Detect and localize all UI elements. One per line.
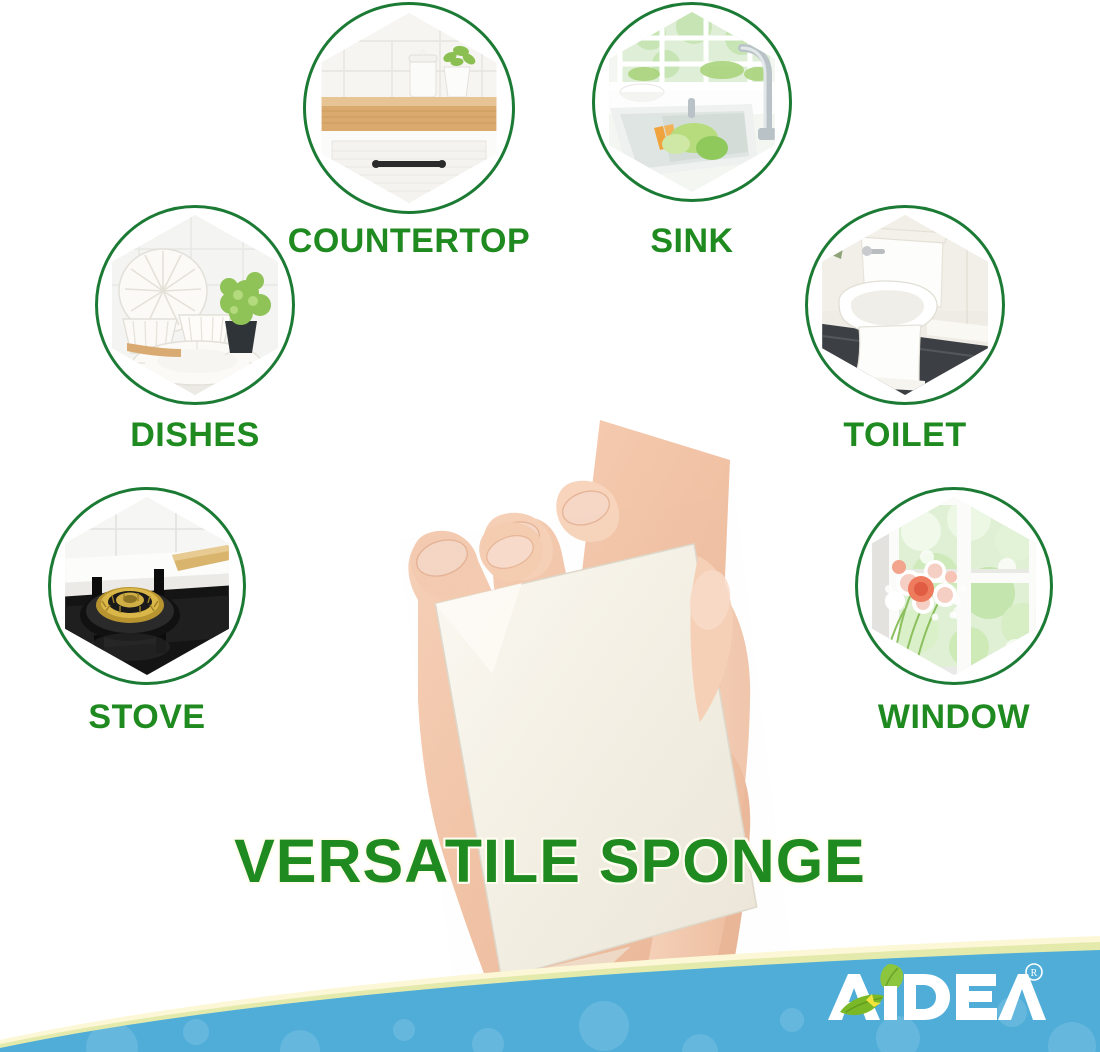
feature-label-toilet: TOILET bbox=[805, 416, 1005, 455]
feature-label-stove: STOVE bbox=[48, 698, 246, 737]
feature-countertop[interactable] bbox=[303, 2, 515, 214]
feature-dishes[interactable] bbox=[95, 205, 295, 405]
feature-stove[interactable] bbox=[48, 487, 246, 685]
svg-text:R: R bbox=[1031, 968, 1038, 979]
brand-logo[interactable]: R bbox=[826, 962, 1046, 1024]
feature-toilet[interactable] bbox=[805, 205, 1005, 405]
feature-label-sink: SINK bbox=[592, 222, 792, 261]
feature-sink[interactable] bbox=[592, 2, 792, 202]
feature-window[interactable] bbox=[855, 487, 1053, 685]
product-infographic: COUNTERTOP bbox=[0, 0, 1100, 1052]
feature-label-dishes: DISHES bbox=[95, 416, 295, 455]
feature-label-countertop: COUNTERTOP bbox=[268, 222, 550, 261]
feature-label-window: WINDOW bbox=[838, 698, 1070, 737]
